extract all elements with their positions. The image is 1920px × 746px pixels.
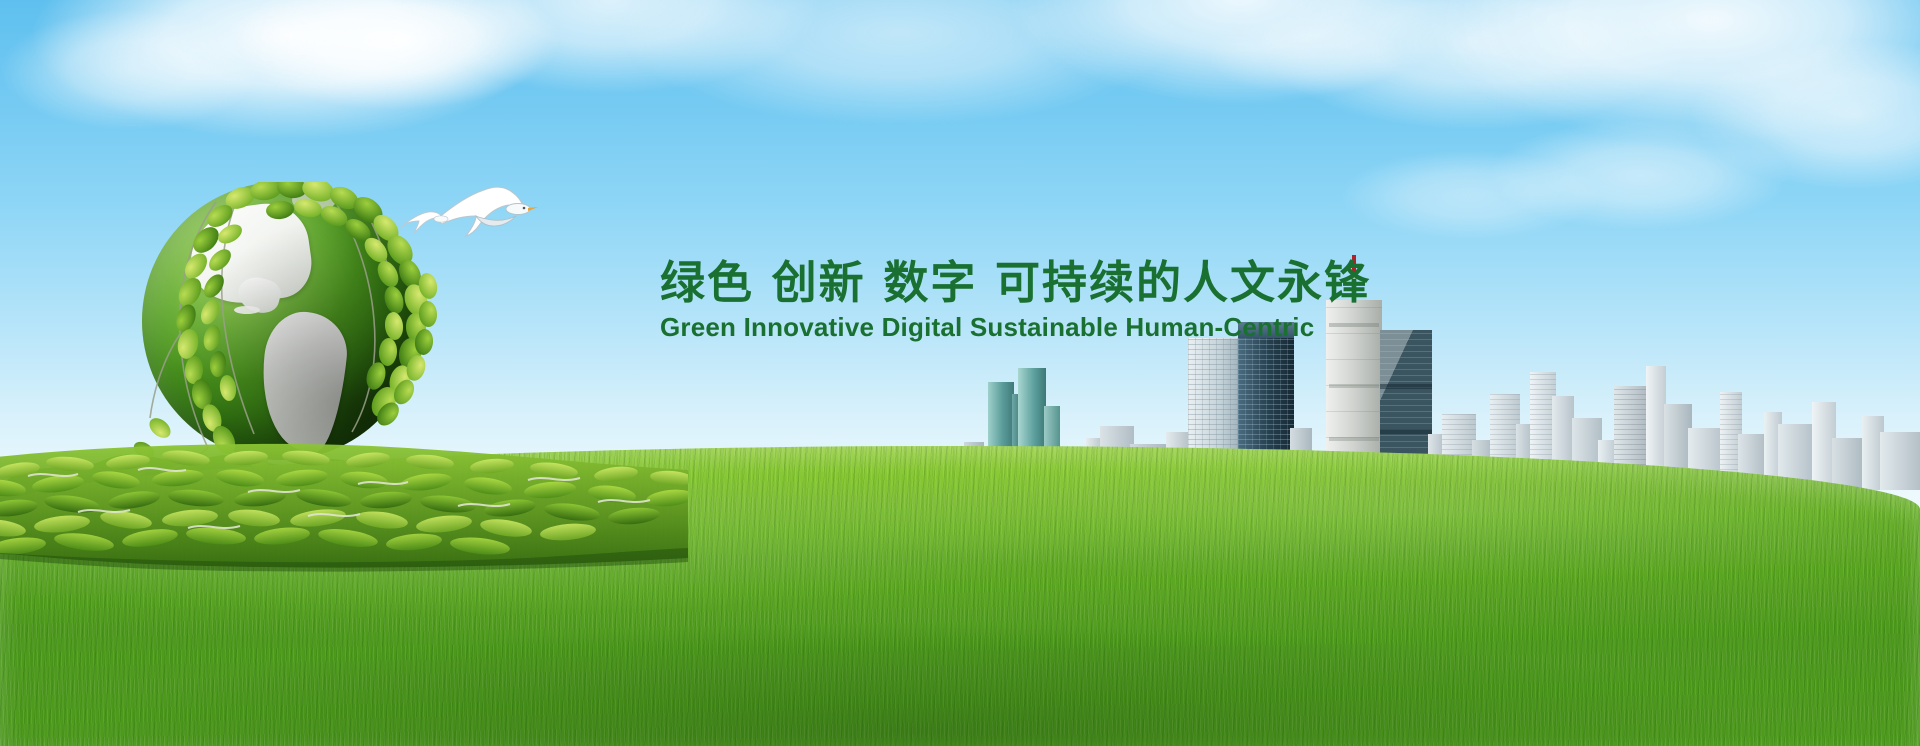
headline-block: 绿色 创新 数字 可持续的人文永锋 Green Innovative Digit… (660, 258, 1300, 343)
cloud-shape (1690, 40, 1920, 190)
cloud-shape (1205, 15, 1405, 95)
cloud-shape (1340, 150, 1600, 240)
cloud-shape (230, 0, 560, 110)
eco-banner: 绿色 创新 数字 可持续的人文永锋 Green Innovative Digit… (0, 0, 1920, 746)
cloud-shape (0, 10, 260, 130)
cloud-shape (400, 0, 820, 95)
cloud-shape (1010, 0, 1470, 105)
cloud-shape (30, 0, 550, 140)
headline-chinese: 绿色 创新 数字 可持续的人文永锋 (660, 258, 1300, 308)
cloud-shape (1260, 0, 1690, 130)
cloud-shape (1490, 120, 1790, 230)
leaf-carpet (0, 440, 688, 575)
cloud-shape (620, 0, 1180, 125)
globe-sphere (142, 182, 420, 460)
headline-english: Green Innovative Digital Sustainable Hum… (660, 312, 1300, 343)
cloud-shape (1430, 0, 1920, 145)
globe-shading (142, 182, 420, 460)
